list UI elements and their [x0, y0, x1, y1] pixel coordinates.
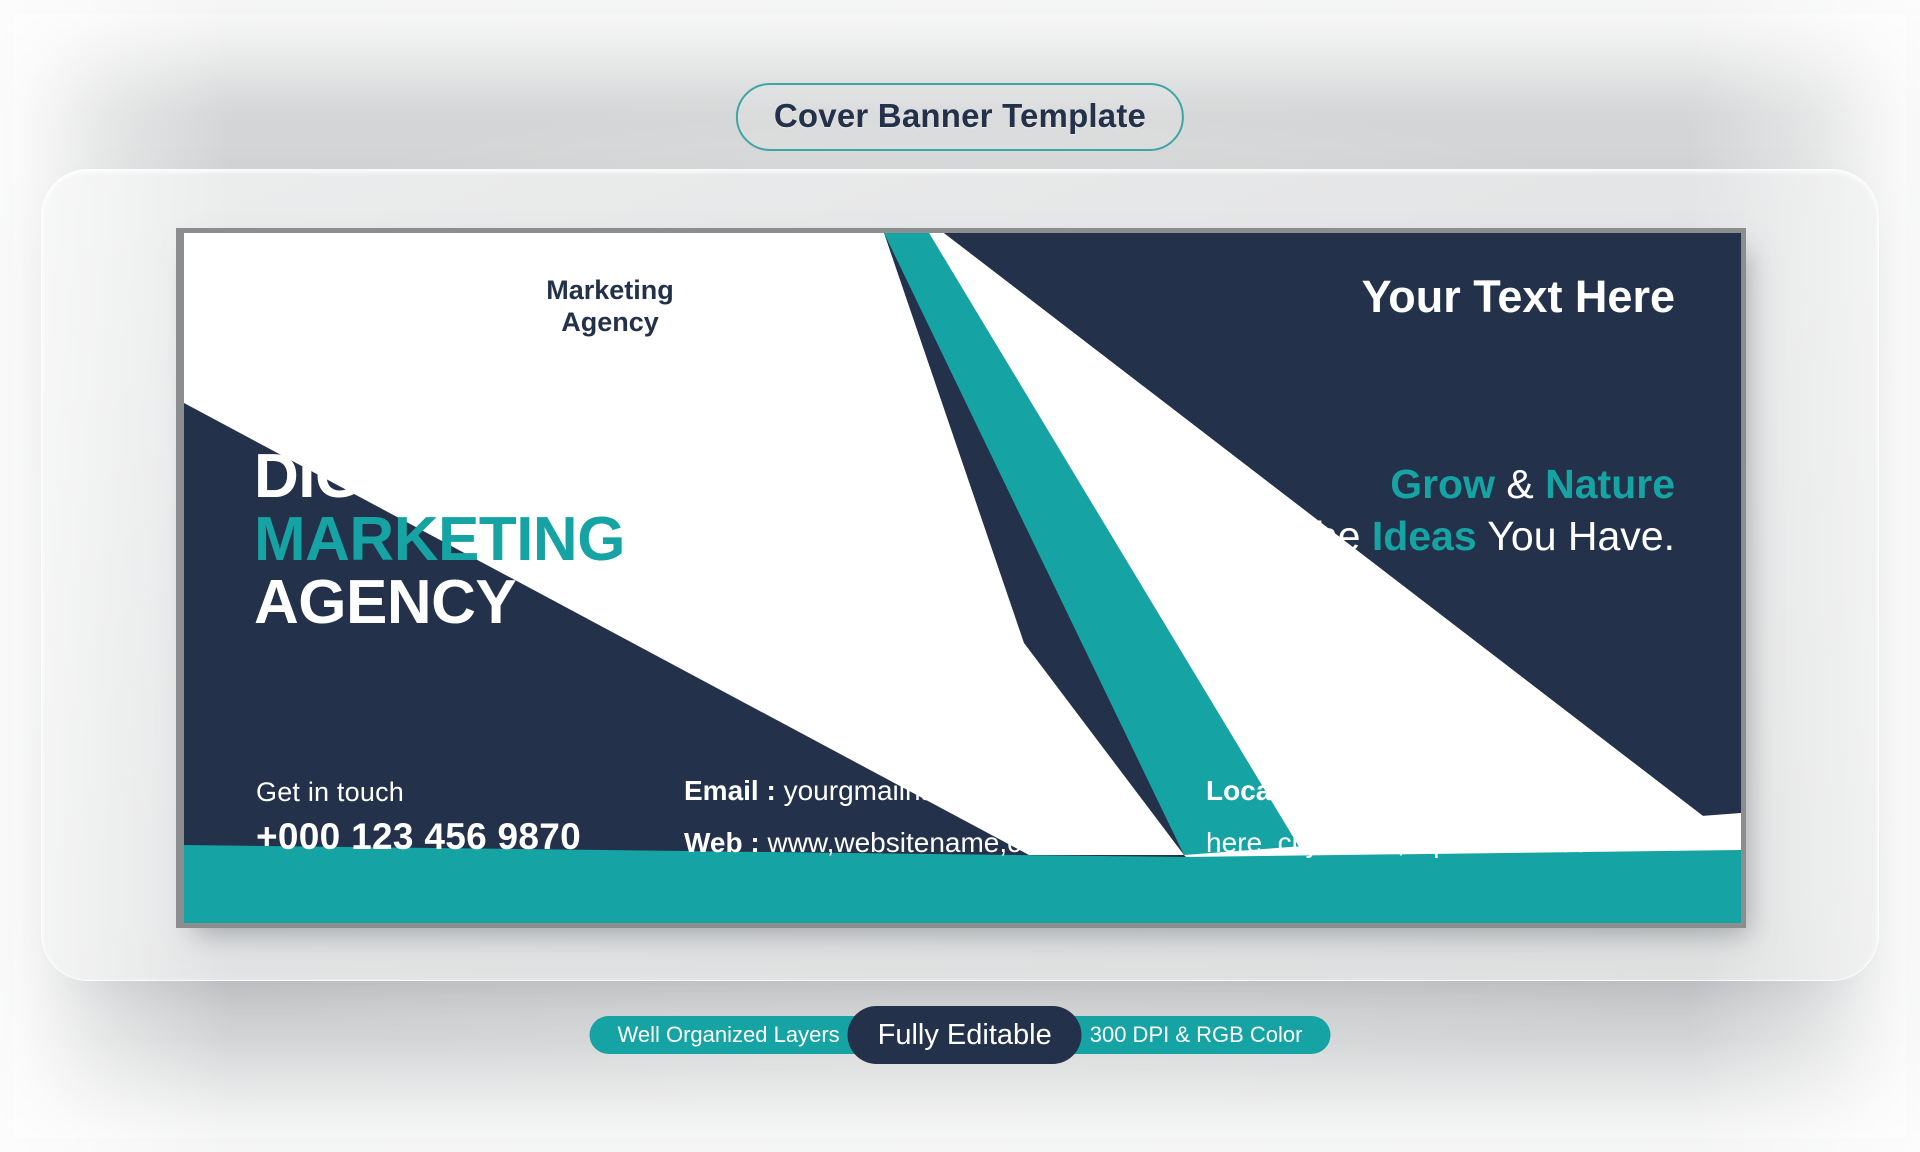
brand-kicker-line1: Marketing — [460, 275, 760, 307]
contact-phone-column: Get in touch +000 123 456 9870 — [184, 773, 684, 858]
banner-frame: Marketing Agency DIGITAL MARKETING AGENC… — [176, 228, 1746, 928]
brand-kicker-line2: Agency — [460, 307, 760, 339]
tagline-word-nature: Nature — [1545, 461, 1675, 507]
get-in-touch-label: Get in touch — [256, 777, 684, 808]
tagline-you-have: You Have. — [1477, 513, 1675, 559]
banner-right-heading: Your Text Here — [1362, 271, 1675, 323]
tagline-ampersand: & — [1495, 461, 1545, 507]
tagline-line-2: the Ideas You Have. — [1303, 510, 1675, 562]
brand-kicker: Marketing Agency — [460, 275, 760, 339]
headline-line-3: AGENCY — [254, 571, 625, 634]
location-value: your street address — [1348, 775, 1588, 806]
badge-fully-editable: Fully Editable — [848, 1006, 1082, 1064]
web-label: Web : — [684, 827, 767, 858]
location-line-2: here, city name, zip code - 000 — [1206, 829, 1741, 857]
email-label: Email : — [684, 775, 784, 806]
tagline-word-grow: Grow — [1390, 461, 1495, 507]
email-value: yourgmailname,com — [784, 775, 1036, 806]
email-line: Email : yourgmailname,com — [684, 777, 1154, 805]
cover-banner: Marketing Agency DIGITAL MARKETING AGENC… — [184, 233, 1741, 923]
web-line: Web : www,websitename,com — [684, 829, 1154, 857]
headline-line-1: DIGITAL — [254, 445, 625, 508]
feature-badge-strip: Well Organized Layers Fully Editable 300… — [590, 1012, 1331, 1058]
web-value: www,websitename,com — [767, 827, 1060, 858]
badge-well-organized-layers: Well Organized Layers — [590, 1016, 886, 1054]
contact-location-column: Location : your street address here, cit… — [1154, 773, 1741, 857]
contact-email-column: Email : yourgmailname,com Web : www,webs… — [684, 773, 1154, 857]
badge-dpi-color: 300 DPI & RGB Color — [1044, 1016, 1331, 1054]
page-title-pill: Cover Banner Template — [736, 83, 1184, 151]
banner-tagline: Grow & Nature the Ideas You Have. — [1303, 458, 1675, 563]
tagline-line-1: Grow & Nature — [1303, 458, 1675, 510]
tagline-word-ideas: Ideas — [1372, 513, 1477, 559]
location-line-1: Location : your street address — [1206, 777, 1741, 805]
tagline-the: the — [1303, 513, 1371, 559]
headline-line-2: MARKETING — [254, 508, 625, 571]
contact-bar: Get in touch +000 123 456 9870 Email : y… — [184, 745, 1741, 923]
phone-number: +000 123 456 9870 — [256, 816, 684, 858]
banner-headline: DIGITAL MARKETING AGENCY — [254, 445, 625, 635]
location-label: Location : — [1206, 775, 1348, 806]
